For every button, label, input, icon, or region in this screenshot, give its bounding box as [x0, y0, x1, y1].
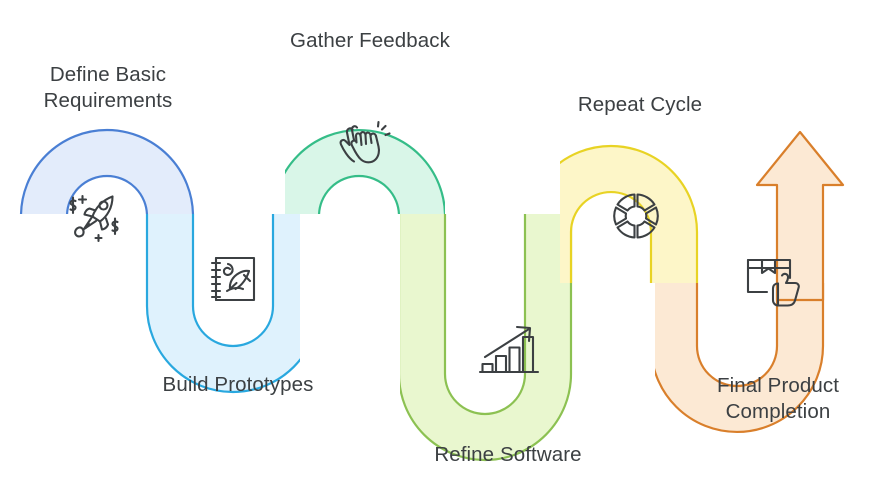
step-label-define-basic-requirements: Define Basic Requirements — [8, 62, 208, 114]
step-label-final-product-completion: Final Product Completion — [678, 373, 878, 425]
step-label-repeat-cycle: Repeat Cycle — [545, 92, 735, 118]
step-label-build-prototypes: Build Prototypes — [128, 372, 348, 398]
rocket-money-icon — [62, 183, 126, 247]
growth-chart-icon — [472, 315, 546, 383]
notebook-quill-icon — [203, 247, 267, 311]
cycle-ring-icon — [604, 184, 668, 248]
package-thumbs-up-icon — [740, 248, 814, 316]
clapping-hands-icon — [330, 113, 394, 177]
step-label-refine-software: Refine Software — [398, 442, 618, 468]
diagram-canvas: Define Basic Requirements Build Prototyp… — [0, 0, 893, 487]
step-label-gather-feedback: Gather Feedback — [260, 28, 480, 54]
